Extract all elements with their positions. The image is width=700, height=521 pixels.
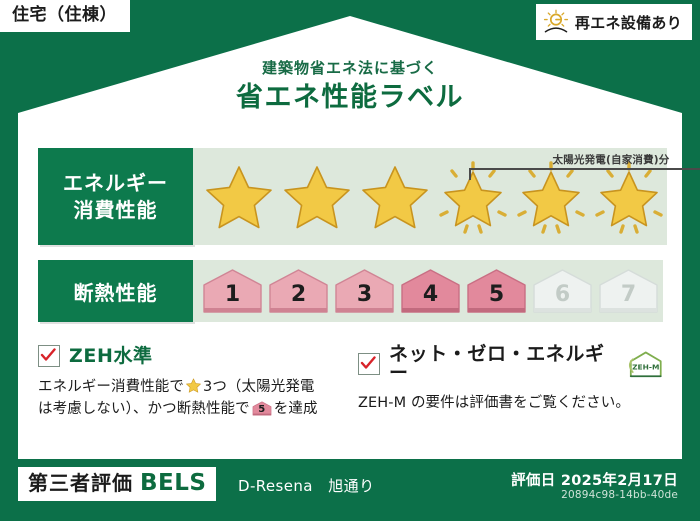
building-type-tab: 住宅（住棟） (0, 0, 130, 32)
evaluation-id: 20894c98-14bb-40de (561, 489, 678, 501)
insulation-level-6: 6 (531, 267, 594, 315)
zeh-desc-part2: は考慮しない）、かつ断熱性能で (38, 401, 250, 417)
insulation-level-7-num: 7 (621, 284, 636, 315)
sun-renewable-icon (543, 9, 569, 35)
energy-label-line1: エネルギー (63, 170, 168, 196)
energy-performance-rating-panel: 太陽光発電(自家消費)分 (193, 148, 667, 245)
insulation-performance-row: 断熱性能 1 2 3 4 (38, 260, 663, 322)
inline-star-icon (185, 377, 202, 394)
star-filled-2 (279, 159, 355, 235)
footer-bar: 第三者評価 BELS D-Resena 旭通り 評価日 2025年2月17日 2… (0, 459, 700, 521)
net-zero-energy-description: ZEH-M の要件は評価書をご覧ください。 (358, 392, 668, 414)
check-icon (40, 347, 56, 363)
evaluation-date: 評価日 2025年2月17日 (511, 469, 678, 490)
star-filled-1 (201, 159, 277, 235)
bels-en-label: BELS (140, 472, 206, 495)
insulation-level-7: 7 (597, 267, 660, 315)
insulation-level-4-num: 4 (423, 284, 438, 315)
zeh-m-logo-icon: ZEH-M (624, 349, 668, 379)
insulation-level-3-num: 3 (357, 284, 372, 315)
energy-label-line2: 消費性能 (74, 197, 158, 223)
energy-performance-row: エネルギー 消費性能 太陽光発電(自家消費)分 (38, 148, 663, 245)
insulation-performance-row-label: 断熱性能 (38, 260, 193, 322)
label-main-title: 省エネ性能ラベル (0, 83, 700, 113)
net-zero-energy-header: ネット・ゼロ・エネルギー ZEH-M (358, 345, 668, 383)
zeh-standard-checkbox[interactable] (38, 345, 60, 367)
net-zero-energy-checkbox[interactable] (358, 353, 380, 375)
energy-performance-label: 住宅（住棟） 再エネ設備あり 建築物省エネ法に基づく 省エネ性能ラベル エネル (0, 0, 700, 521)
bels-jp-label: 第三者評価 (28, 473, 133, 493)
renewable-badge-label: 再エネ設備あり (575, 12, 682, 33)
project-name: D-Resena 旭通り (238, 475, 374, 496)
insulation-level-5: 5 (465, 267, 528, 315)
label-subtitle: 建築物省エネ法に基づく (0, 60, 700, 77)
insulation-label: 断熱性能 (74, 277, 158, 306)
zeh-standard-header: ZEH水準 (38, 345, 358, 367)
insulation-rating-panel: 1 2 3 4 5 (193, 260, 663, 322)
zeh-desc-part1: エネルギー消費性能で (38, 379, 184, 395)
certification-checks: ZEH水準 エネルギー消費性能で3つ（太陽光発電は考慮しない）、かつ断熱性能で5… (38, 345, 668, 445)
solar-annotation-bracket (469, 168, 700, 180)
insulation-level-1: 1 (201, 267, 264, 315)
inline-insulation-badge: 5 (252, 400, 272, 417)
zeh-standard-title: ZEH水準 (69, 347, 153, 366)
insulation-level-4: 4 (399, 267, 462, 315)
insulation-level-2: 2 (267, 267, 330, 315)
net-zero-energy-section: ネット・ゼロ・エネルギー ZEH-M ZEH-M の要件は評価書をご覧ください。 (358, 345, 668, 445)
insulation-level-2-num: 2 (291, 284, 306, 315)
insulation-level-scale: 1 2 3 4 5 (193, 267, 660, 315)
insulation-level-6-num: 6 (555, 284, 570, 315)
net-zero-energy-title: ネット・ゼロ・エネルギー (389, 345, 611, 383)
label-title-block: 建築物省エネ法に基づく 省エネ性能ラベル (0, 60, 700, 112)
zeh-standard-section: ZEH水準 エネルギー消費性能で3つ（太陽光発電は考慮しない）、かつ断熱性能で5… (38, 345, 358, 445)
star-filled-3 (357, 159, 433, 235)
check-icon (360, 355, 376, 371)
insulation-level-5-num: 5 (489, 284, 504, 315)
inline-insulation-badge-num: 5 (252, 400, 272, 417)
energy-performance-row-label: エネルギー 消費性能 (38, 148, 193, 245)
solar-annotation-label: 太陽光発電(自家消費)分 (461, 152, 700, 167)
renewable-energy-badge: 再エネ設備あり (536, 4, 692, 40)
zeh-desc-star-count: 3つ（太陽光発電 (203, 379, 315, 395)
svg-text:ZEH-M: ZEH-M (633, 362, 660, 371)
insulation-level-3: 3 (333, 267, 396, 315)
zeh-standard-description: エネルギー消費性能で3つ（太陽光発電は考慮しない）、かつ断熱性能で5を達成 (38, 376, 358, 420)
bels-plate: 第三者評価 BELS (18, 467, 216, 501)
building-type-tab-label: 住宅（住棟） (12, 5, 117, 25)
insulation-level-1-num: 1 (225, 284, 240, 315)
zeh-desc-part3: を達成 (274, 401, 318, 417)
